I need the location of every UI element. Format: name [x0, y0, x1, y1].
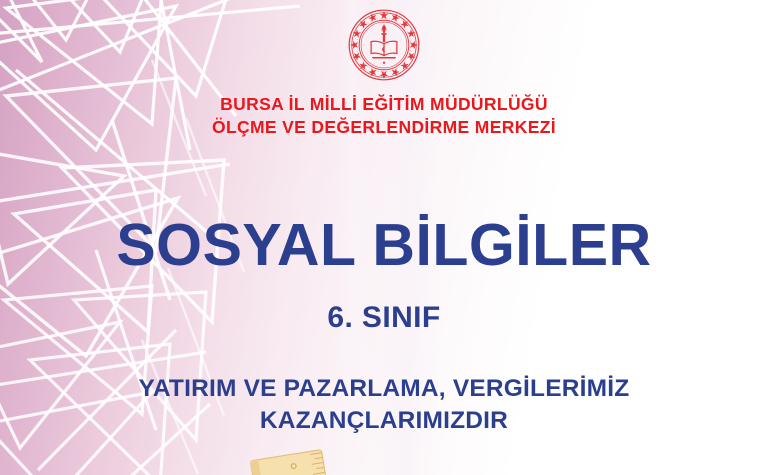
grade-label: 6. SINIF	[327, 301, 440, 335]
organization-block: BURSA İL MİLLİ EĞİTİM MÜDÜRLÜĞÜ ÖLÇME VE…	[212, 93, 556, 140]
ministry-emblem	[347, 8, 421, 82]
ministry-seal-icon	[347, 8, 421, 82]
organization-line-1: BURSA İL MİLLİ EĞİTİM MÜDÜRLÜĞÜ	[212, 93, 556, 116]
poster-canvas: BURSA İL MİLLİ EĞİTİM MÜDÜRLÜĞÜ ÖLÇME VE…	[0, 0, 768, 475]
poster-content: BURSA İL MİLLİ EĞİTİM MÜDÜRLÜĞÜ ÖLÇME VE…	[0, 0, 768, 475]
subject-line-1: YATIRIM VE PAZARLAMA, VERGİLERİMİZ	[139, 373, 630, 405]
subject-block: YATIRIM VE PAZARLAMA, VERGİLERİMİZ KAZAN…	[139, 373, 630, 438]
subject-line-2: KAZANÇLARIMIZDIR	[139, 405, 630, 437]
organization-line-2: ÖLÇME VE DEĞERLENDİRME MERKEZİ	[212, 116, 556, 139]
ruler-notebook-icon	[243, 449, 335, 475]
main-title: SOSYAL BİLGİLER	[116, 216, 651, 275]
